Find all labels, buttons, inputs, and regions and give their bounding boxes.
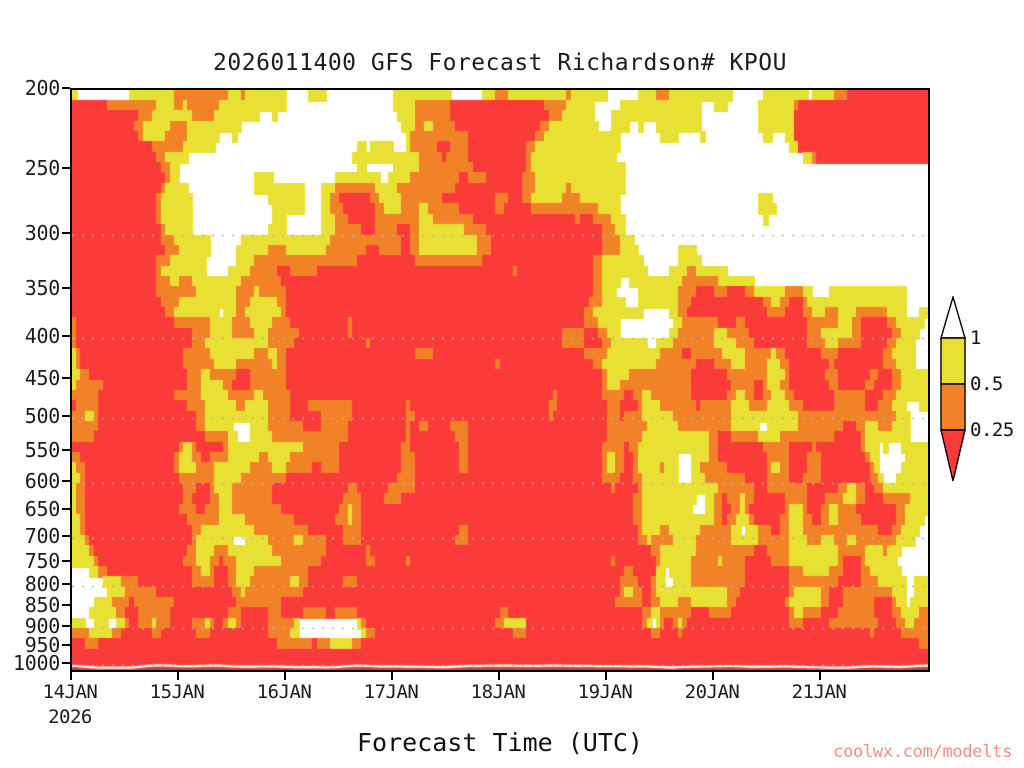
y-tick-label: 750 bbox=[25, 549, 60, 573]
y-tick-mark bbox=[62, 449, 70, 451]
site-credit: coolwx.com/modelts bbox=[833, 742, 1012, 762]
y-tick-mark bbox=[62, 377, 70, 379]
y-tick-label: 650 bbox=[25, 497, 60, 521]
y-tick-mark bbox=[62, 87, 70, 89]
y-tick-label: 450 bbox=[25, 366, 60, 390]
y-tick-mark bbox=[62, 287, 70, 289]
y-tick-label: 550 bbox=[25, 438, 60, 462]
colorbar-band bbox=[941, 297, 965, 338]
x-tick-label: 19JAN bbox=[578, 681, 633, 703]
x-tick-label: 14JAN bbox=[43, 681, 98, 703]
y-tick-label: 700 bbox=[25, 524, 60, 548]
x-tick-label: 20JAN bbox=[685, 681, 740, 703]
x-tick-mark bbox=[819, 672, 821, 680]
x-tick-label: 16JAN bbox=[257, 681, 312, 703]
y-tick-label: 800 bbox=[25, 572, 60, 596]
y-tick-mark bbox=[62, 560, 70, 562]
y-tick-mark bbox=[62, 480, 70, 482]
chart-root: 2026011400 GFS Forecast Richardson# KPOU… bbox=[0, 0, 1024, 768]
x-tick-label: 15JAN bbox=[150, 681, 205, 703]
y-tick-mark bbox=[62, 644, 70, 646]
x-tick-mark bbox=[498, 672, 500, 680]
y-tick-mark bbox=[62, 662, 70, 664]
y-tick-label: 400 bbox=[25, 324, 60, 348]
y-tick-label: 500 bbox=[25, 404, 60, 428]
x-tick-mark bbox=[177, 672, 179, 680]
x-tick-label: 21JAN bbox=[792, 681, 847, 703]
x-tick-mark bbox=[284, 672, 286, 680]
x-tick-mark bbox=[391, 672, 393, 680]
plot-area bbox=[70, 88, 930, 672]
y-tick-label: 250 bbox=[25, 156, 60, 180]
x-axis-year-label: 2026 bbox=[48, 706, 92, 728]
y-tick-mark bbox=[62, 335, 70, 337]
x-tick-mark bbox=[70, 672, 72, 680]
chart-title: 2026011400 GFS Forecast Richardson# KPOU bbox=[0, 50, 1000, 76]
y-tick-label: 350 bbox=[25, 276, 60, 300]
y-tick-mark bbox=[62, 535, 70, 537]
y-tick-mark bbox=[62, 508, 70, 510]
y-tick-mark bbox=[62, 232, 70, 234]
colorbar-tick-label: 0.5 bbox=[970, 373, 1003, 395]
colorbar-band bbox=[941, 430, 965, 481]
colorbar-band bbox=[941, 338, 965, 384]
x-tick-label: 17JAN bbox=[364, 681, 419, 703]
y-tick-mark bbox=[62, 604, 70, 606]
y-tick-label: 600 bbox=[25, 469, 60, 493]
x-tick-mark bbox=[712, 672, 714, 680]
colorbar-band bbox=[941, 384, 965, 430]
colorbar-legend: 10.50.25 bbox=[940, 296, 966, 480]
x-axis-time: 14JAN202615JAN16JAN17JAN18JAN19JAN20JAN2… bbox=[0, 672, 1024, 732]
x-tick-mark bbox=[605, 672, 607, 680]
y-axis-pressure: 2002503003504004505005506006507007508008… bbox=[0, 88, 70, 672]
x-axis-title: Forecast Time (UTC) bbox=[70, 728, 930, 757]
y-tick-mark bbox=[62, 583, 70, 585]
colorbar-tick-label: 1 bbox=[970, 327, 981, 349]
colorbar-tick-label: 0.25 bbox=[970, 419, 1014, 441]
y-tick-mark bbox=[62, 167, 70, 169]
x-tick-label: 18JAN bbox=[471, 681, 526, 703]
y-tick-label: 300 bbox=[25, 221, 60, 245]
y-tick-mark bbox=[62, 625, 70, 627]
y-tick-mark bbox=[62, 415, 70, 417]
y-tick-label: 200 bbox=[25, 76, 60, 100]
richardson-heatmap-canvas bbox=[72, 90, 928, 670]
